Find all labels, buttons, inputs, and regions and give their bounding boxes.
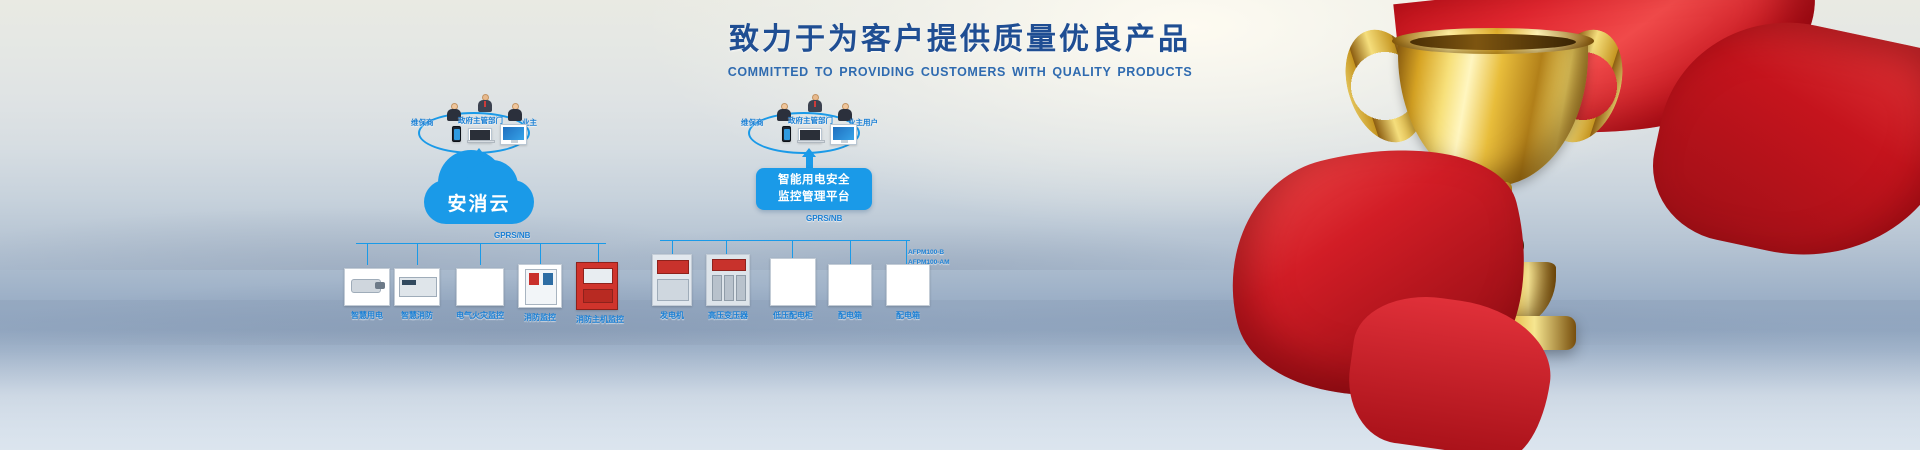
- left-drop-1: [417, 243, 418, 265]
- left-uplink-label: GPRS/NB: [494, 231, 530, 240]
- control-panel-icon: [394, 268, 440, 306]
- right-bus-line: [660, 240, 910, 241]
- left-user-label-1: 政府主管部门: [458, 115, 503, 126]
- cabinet-icon: [456, 268, 504, 306]
- equipment-label: 消防主机监控: [576, 314, 618, 325]
- banner-title: 致力于为客户提供质量优良产品: [0, 14, 1920, 58]
- equipment-item: 高压变压器: [706, 254, 750, 321]
- distribution-box-icon: [828, 264, 872, 306]
- fire-host-icon: [576, 262, 618, 310]
- banner-headline-block: 致力于为客户提供质量优良产品 COMMITTED TO PROVIDING CU…: [0, 14, 1920, 79]
- equipment-label: 配电箱: [886, 310, 930, 321]
- equipment-label: 发电机: [652, 310, 692, 321]
- banner-subtitle: COMMITTED TO PROVIDING CUSTOMERS WITH QU…: [0, 65, 1920, 79]
- equipment-item: 消防监控: [518, 264, 562, 323]
- equipment-item: 发电机: [652, 254, 692, 321]
- laptop-icon: [468, 128, 492, 143]
- equipment-item: 智慧用电: [344, 268, 390, 321]
- smartphone-icon: [782, 126, 791, 142]
- left-drop-2: [480, 243, 481, 265]
- equipment-label: 智慧用电: [344, 310, 390, 321]
- distribution-box-icon: [886, 264, 930, 306]
- person-icon: [808, 94, 822, 112]
- left-drop-3: [540, 243, 541, 265]
- left-drop-0: [367, 243, 368, 265]
- camera-device-icon: [344, 268, 390, 306]
- equipment-item: 低压配电柜: [770, 258, 816, 321]
- platform-title-line1: 智能用电安全: [778, 172, 850, 189]
- laptop-icon: [798, 128, 822, 143]
- smartphone-icon: [452, 126, 461, 142]
- right-drop-4: [906, 240, 907, 264]
- equipment-item: 电气火灾监控: [456, 268, 504, 321]
- platform-title-line2: 监控管理平台: [778, 189, 850, 206]
- equipment-label: 高压变压器: [706, 310, 750, 321]
- equipment-label: 智慧消防: [394, 310, 440, 321]
- desktop-monitor-icon: [500, 124, 527, 145]
- transformer-icon: [706, 254, 750, 306]
- equipment-item: 智慧消防: [394, 268, 440, 321]
- right-user-label-1: 政府主管部门: [788, 115, 833, 126]
- left-user-label-0: 维保商: [411, 117, 434, 128]
- platform-box: 智能用电安全 监控管理平台: [756, 168, 872, 210]
- generator-icon: [652, 254, 692, 306]
- fire-control-icon: [518, 264, 562, 308]
- side-label-0: AFPM100-B: [908, 249, 944, 256]
- equipment-label: 电气火灾监控: [456, 310, 504, 321]
- promo-banner: 致力于为客户提供质量优良产品 COMMITTED TO PROVIDING CU…: [0, 0, 1920, 450]
- equipment-label: 配电箱: [828, 310, 872, 321]
- equipment-label: 消防监控: [518, 312, 562, 323]
- anxiao-cloud: 安消云: [424, 180, 534, 224]
- low-voltage-cabinet-icon: [770, 258, 816, 306]
- right-uplink-label: GPRS/NB: [806, 214, 842, 223]
- person-icon: [478, 94, 492, 112]
- right-user-label-0: 维保商: [741, 117, 764, 128]
- equipment-item: 消防主机监控: [576, 262, 618, 325]
- equipment-item: 配电箱: [886, 264, 930, 321]
- person-icon: [508, 103, 522, 121]
- desktop-monitor-icon: [830, 124, 857, 145]
- right-drop-3: [850, 240, 851, 264]
- equipment-label: 低压配电柜: [770, 310, 816, 321]
- equipment-item: 配电箱: [828, 264, 872, 321]
- cloud-label: 安消云: [447, 189, 510, 216]
